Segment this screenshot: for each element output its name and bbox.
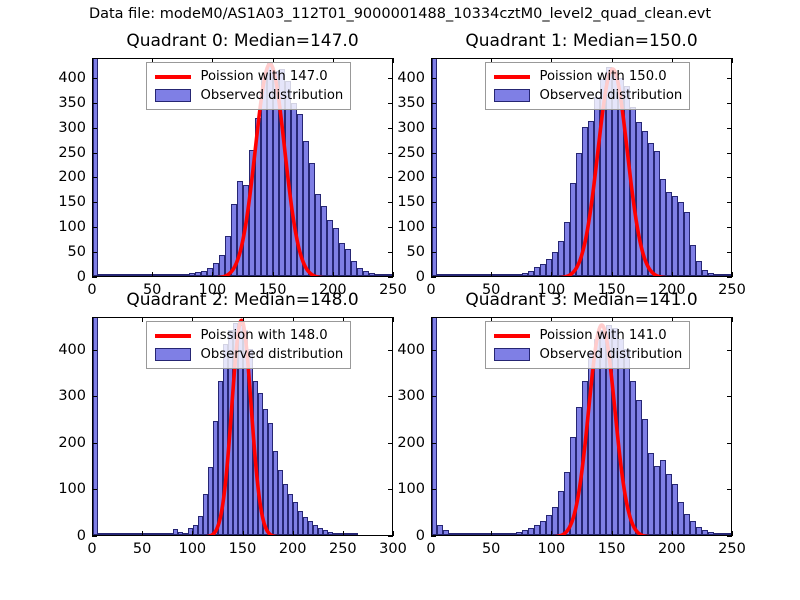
x-tick-mark [732, 531, 733, 536]
subplot-quadrant-3: Quadrant 3: Median=141.00100200300400050… [0, 0, 800, 600]
x-tick-label: 0 [426, 541, 435, 557]
figure-canvas: Data file: modeM0/AS1A03_112T01_90000014… [0, 0, 800, 600]
line-swatch-icon [494, 334, 530, 338]
y-tick-label: 0 [416, 528, 425, 544]
x-tick-label: 50 [482, 541, 500, 557]
y-tick-mark-right [727, 489, 732, 490]
y-tick-mark [431, 536, 436, 537]
x-tick-mark-top [732, 317, 733, 322]
y-tick-mark-right [727, 350, 732, 351]
legend-entry: Poission with 141.0 [492, 326, 683, 345]
x-tick-label: 100 [538, 541, 566, 557]
y-tick-mark-right [727, 443, 732, 444]
patch-swatch-icon [494, 348, 530, 361]
y-tick-label: 300 [397, 388, 425, 404]
legend-label: Observed distribution [540, 345, 683, 364]
legend-3: Poission with 141.0Observed distribution [485, 321, 691, 369]
x-tick-label: 250 [718, 541, 746, 557]
legend-line-swatch [492, 328, 532, 343]
x-tick-mark [431, 531, 432, 536]
histogram-bar [726, 533, 731, 535]
legend-patch-swatch [492, 347, 532, 362]
y-tick-mark-right [727, 396, 732, 397]
y-tick-mark [431, 396, 436, 397]
y-tick-label: 400 [397, 342, 425, 358]
y-tick-mark [431, 489, 436, 490]
axes-title-3: Quadrant 3: Median=141.0 [431, 290, 732, 310]
y-tick-mark-right [727, 536, 732, 537]
x-tick-mark [491, 531, 492, 536]
x-tick-label: 150 [598, 541, 626, 557]
y-tick-label: 200 [397, 435, 425, 451]
legend-entry: Observed distribution [492, 345, 683, 364]
y-tick-label: 100 [397, 481, 425, 497]
x-tick-mark [612, 531, 613, 536]
x-tick-label: 200 [658, 541, 686, 557]
x-tick-mark [672, 531, 673, 536]
x-tick-mark-top [431, 317, 432, 322]
legend-label: Poission with 141.0 [540, 326, 683, 345]
y-tick-mark [431, 350, 436, 351]
y-tick-mark [431, 443, 436, 444]
x-tick-mark [551, 531, 552, 536]
